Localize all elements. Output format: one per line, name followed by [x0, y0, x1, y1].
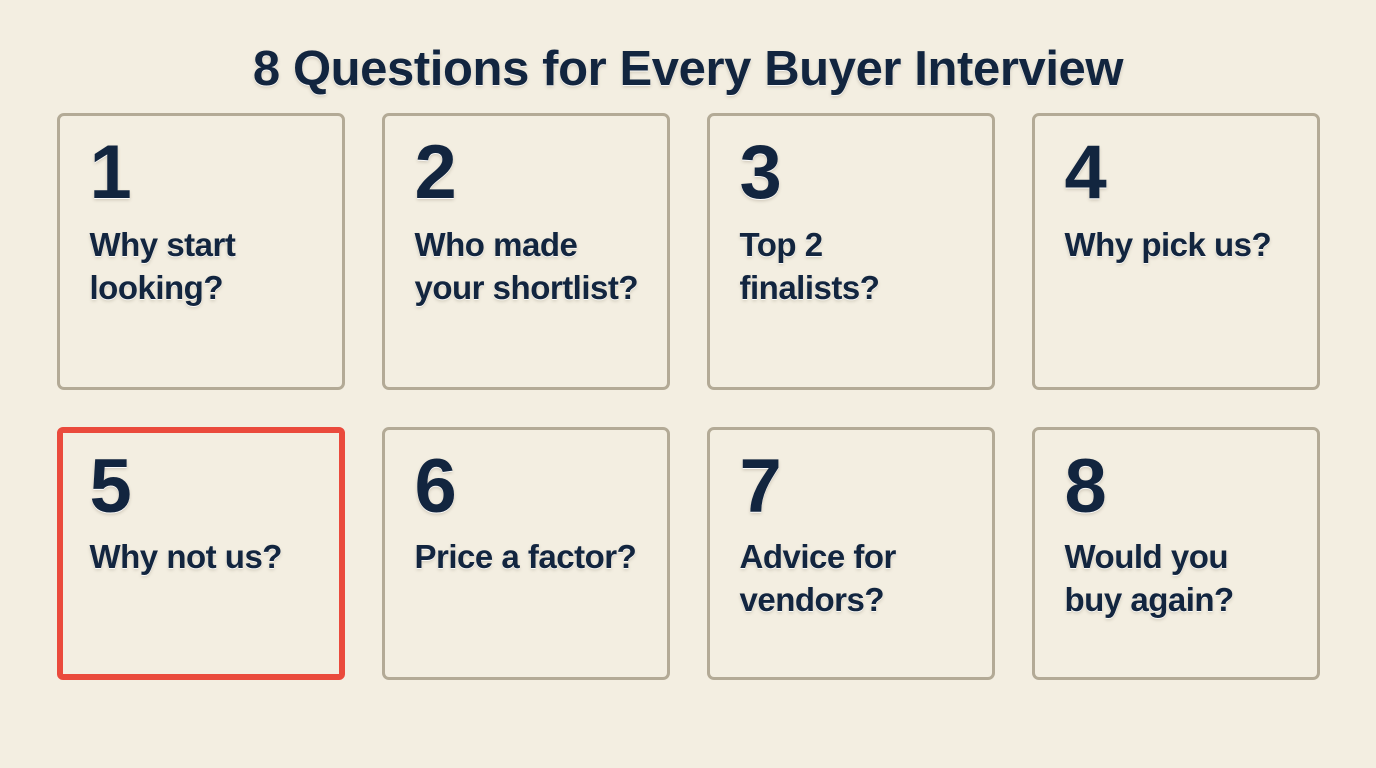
question-card-7[interactable]: 7 Advice for vendors?	[707, 427, 995, 680]
card-number: 8	[1065, 452, 1106, 522]
card-number: 5	[90, 452, 131, 522]
card-number: 2	[415, 138, 456, 208]
page-title: 8 Questions for Every Buyer Interview	[0, 0, 1376, 96]
question-card-8[interactable]: 8 Would you buy again?	[1032, 427, 1320, 680]
card-number: 7	[740, 452, 781, 522]
card-number: 6	[415, 452, 456, 522]
question-card-1[interactable]: 1 Why start looking?	[57, 113, 345, 390]
question-card-6[interactable]: 6 Price a factor?	[382, 427, 670, 680]
question-card-5[interactable]: 5 Why not us?	[57, 427, 345, 680]
card-question: Why start looking?	[90, 224, 318, 310]
card-number: 3	[740, 138, 781, 208]
card-question: Top 2 finalists?	[740, 224, 968, 310]
question-card-grid: 1 Why start looking? 2 Who made your sho…	[0, 96, 1376, 768]
card-question: Price a factor?	[415, 536, 637, 579]
card-number: 4	[1065, 138, 1106, 208]
question-card-4[interactable]: 4 Why pick us?	[1032, 113, 1320, 390]
card-number: 1	[90, 138, 131, 208]
card-question: Would you buy again?	[1065, 536, 1293, 622]
question-card-2[interactable]: 2 Who made your shortlist?	[382, 113, 670, 390]
question-card-3[interactable]: 3 Top 2 finalists?	[707, 113, 995, 390]
card-question: Who made your shortlist?	[415, 224, 643, 310]
card-question: Why pick us?	[1065, 224, 1272, 267]
card-question: Advice for vendors?	[740, 536, 968, 622]
card-question: Why not us?	[90, 536, 282, 579]
slide-root: 8 Questions for Every Buyer Interview 1 …	[0, 0, 1376, 768]
